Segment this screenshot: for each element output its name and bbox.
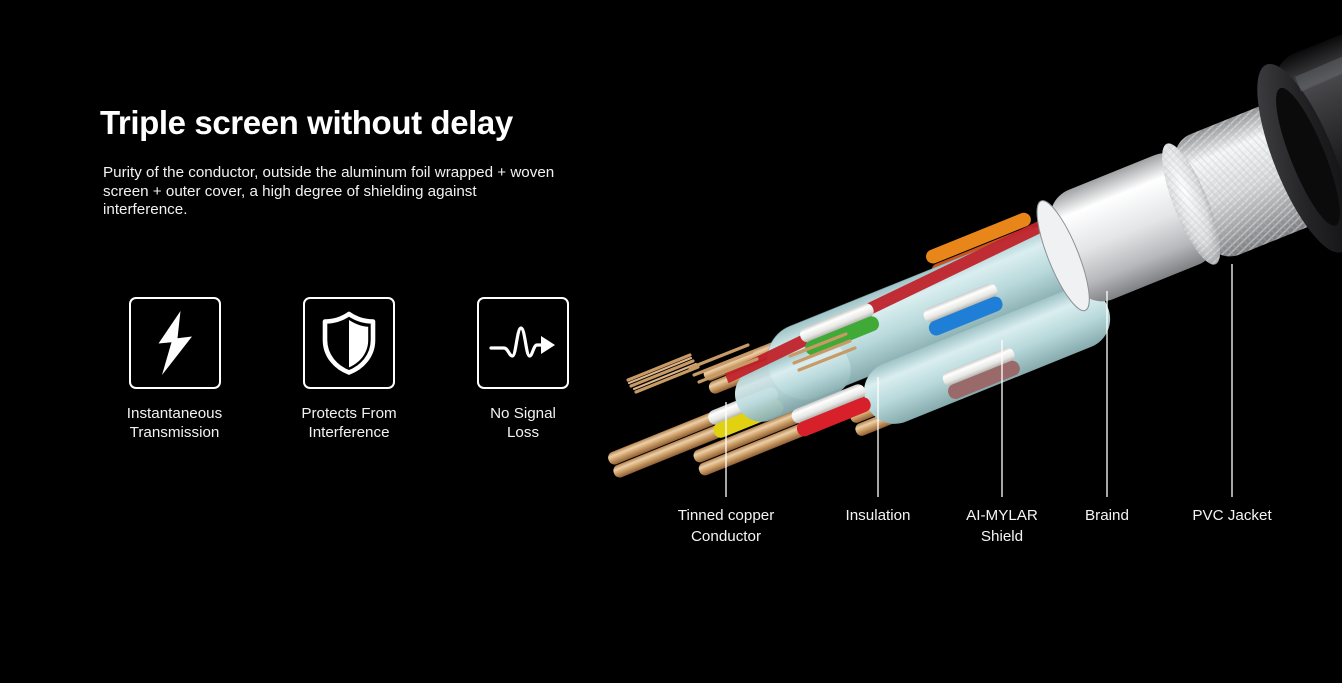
callout-label-insulation: Insulation (845, 505, 910, 526)
infographic-canvas: Triple screen without delay Purity of th… (0, 0, 1342, 683)
callout-label-al-mylar-shield: AI-MYLAR Shield (966, 505, 1038, 547)
callout-label-tinned-copper-conductor: Tinned copper Conductor (678, 505, 775, 547)
callout-leader-lines (0, 0, 1342, 683)
callout-label-pvc-jacket: PVC Jacket (1192, 505, 1271, 526)
callout-label-braid: Braind (1085, 505, 1129, 526)
